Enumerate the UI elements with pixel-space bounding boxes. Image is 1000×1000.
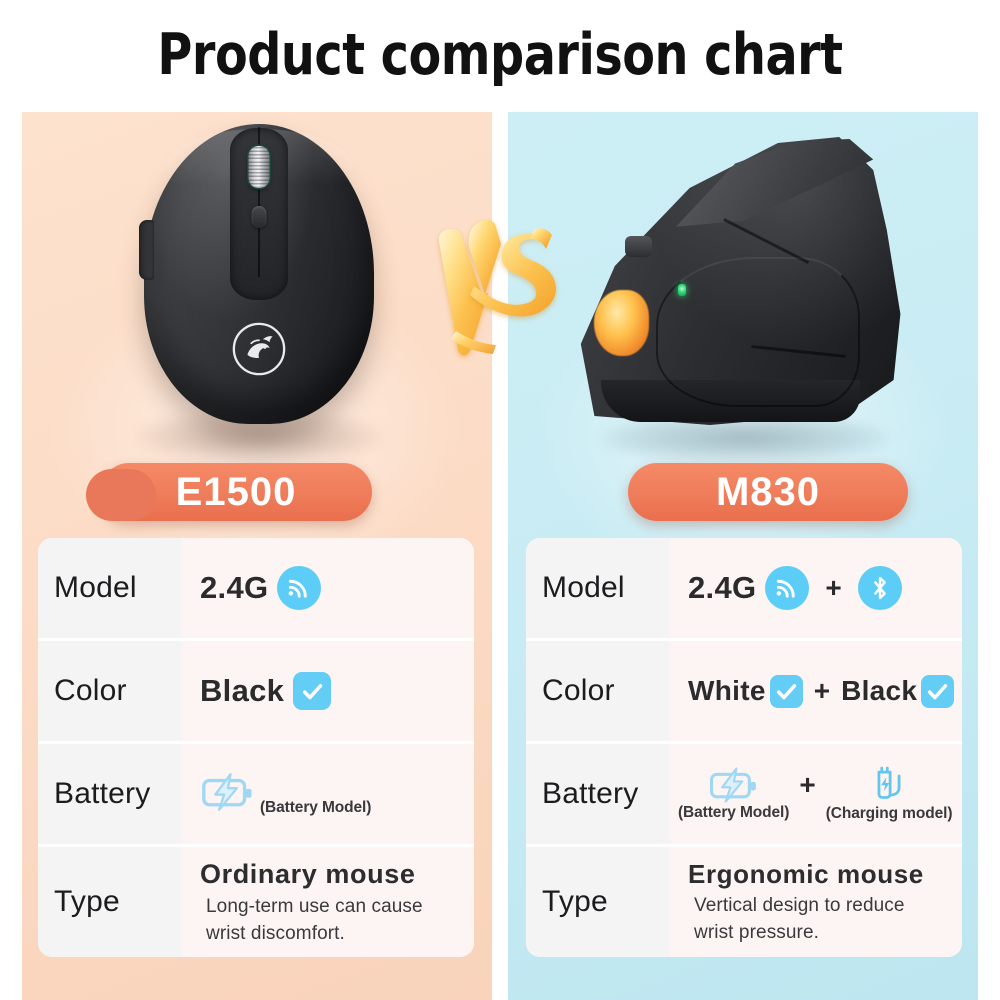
charging-plug-icon: [866, 766, 912, 804]
color-value-text-black: Black: [841, 675, 917, 707]
spec-label-battery: Battery: [526, 744, 670, 844]
type-sub-line2: wrist discomfort.: [206, 923, 423, 944]
spec-label-color: Color: [38, 641, 182, 741]
color-value-text: Black: [200, 673, 284, 709]
table-row: Type Ordinary mouse Long-term use can ca…: [38, 847, 474, 957]
vertical-mouse-body: [574, 128, 914, 428]
type-main-text: Ergonomic mouse: [688, 860, 924, 889]
checkmark-icon: [770, 675, 803, 708]
type-sub-line1: Vertical design to reduce: [694, 895, 924, 916]
side-button: [139, 220, 154, 280]
spec-label-model: Model: [38, 538, 182, 638]
model-value-text: 2.4G: [200, 570, 268, 606]
model-value-text: 2.4G: [688, 570, 756, 606]
spec-value-model: 2.4G +: [670, 538, 962, 638]
spec-label-model: Model: [526, 538, 670, 638]
gold-accent-highlight: [594, 290, 648, 356]
spec-value-color: Black: [182, 641, 474, 741]
spec-label-color: Color: [526, 641, 670, 741]
table-row: Model 2.4G: [38, 538, 474, 638]
wifi-signal-icon: [277, 566, 321, 610]
separator-plus: +: [814, 675, 830, 707]
comparison-chart-page: Product comparison chart: [0, 0, 1000, 1000]
separator-plus: +: [825, 572, 841, 604]
ordinary-mouse-body: [144, 124, 374, 424]
spec-value-type: Ergonomic mouse Vertical design to reduc…: [670, 847, 962, 957]
type-sub-line1: Long-term use can cause: [206, 896, 423, 917]
status-led-icon: [678, 284, 686, 296]
spec-label-battery: Battery: [38, 744, 182, 844]
page-title: Product comparison chart: [35, 22, 965, 88]
spec-table-m830: Model 2.4G +: [526, 538, 962, 957]
spec-value-color: White + Black: [670, 641, 962, 741]
charging-model-group: (Charging model): [826, 766, 953, 823]
color-value-text-white: White: [688, 675, 766, 707]
spec-table-e1500: Model 2.4G Color: [38, 538, 474, 957]
checkmark-icon: [293, 672, 331, 710]
product-name-badge-e1500: E1500: [100, 463, 372, 521]
separator-plus: +: [799, 769, 815, 801]
spec-value-battery: (Battery Model) + (Charging mo: [670, 744, 962, 844]
table-row: Model 2.4G +: [526, 538, 962, 638]
battery-caption: (Battery Model): [678, 804, 789, 822]
wifi-signal-icon: [765, 566, 809, 610]
thumb-button: [625, 236, 652, 257]
spec-label-type: Type: [526, 847, 670, 957]
battery-model-group: (Battery Model): [678, 767, 789, 822]
table-row: Color White + Black: [526, 641, 962, 741]
battery-caption: (Battery Model): [260, 799, 371, 817]
type-main-text: Ordinary mouse: [200, 860, 423, 890]
vs-badge-icon: [420, 205, 580, 365]
dpi-button: [252, 206, 267, 228]
spec-label-type: Type: [38, 847, 182, 957]
spec-value-model: 2.4G: [182, 538, 474, 638]
table-row: Battery (Battery Model) +: [526, 744, 962, 844]
battery-bolt-icon: [708, 767, 760, 803]
scroll-wheel-icon: [249, 146, 270, 188]
table-row: Battery (Battery Model): [38, 744, 474, 844]
brand-dragon-logo-icon: [230, 320, 288, 378]
bluetooth-icon: [858, 566, 902, 610]
spec-value-type: Ordinary mouse Long-term use can cause w…: [182, 847, 474, 957]
battery-bolt-icon: [200, 772, 256, 817]
table-row: Color Black: [38, 641, 474, 741]
product-name-badge-m830: M830: [628, 463, 908, 521]
checkmark-icon: [921, 675, 954, 708]
table-row: Type Ergonomic mouse Vertical design to …: [526, 847, 962, 957]
spec-value-battery: (Battery Model): [182, 744, 474, 844]
charging-caption: (Charging model): [826, 805, 953, 823]
vertical-mouse-groove: [656, 257, 860, 407]
type-sub-line2: wrist pressure.: [694, 922, 924, 943]
